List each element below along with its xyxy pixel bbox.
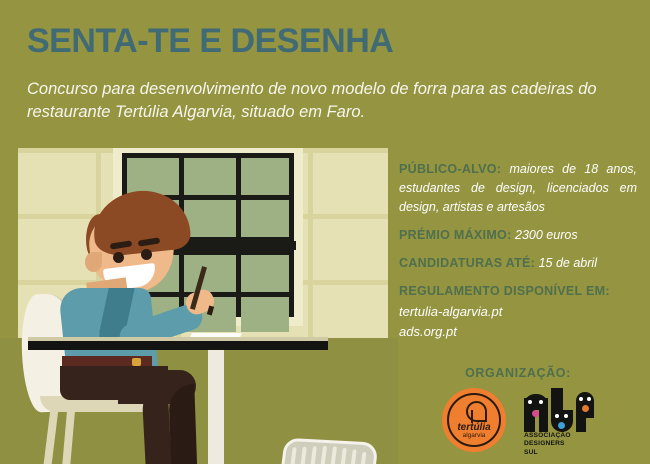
info-label: PRÉMIO MÁXIMO: xyxy=(399,228,512,242)
info-item-candidaturas: CANDIDATURAS ATÉ: 15 de abril xyxy=(399,254,637,273)
info-label: PÚBLICO-ALVO: xyxy=(399,162,501,176)
tertulia-algarvia-logo: tertúlia algarvia xyxy=(442,388,506,452)
page-title: SENTA-TE E DESENHA xyxy=(27,22,393,61)
organization-logos: tertúlia algarvia xyxy=(399,388,637,460)
page-subtitle: Concurso para desenvolvimento de novo mo… xyxy=(27,78,627,125)
info-column: PÚBLICO-ALVO: maiores de 18 anos, estuda… xyxy=(399,160,637,342)
info-item-premio-maximo: PRÉMIO MÁXIMO: 2300 euros xyxy=(399,226,637,245)
modern-slatted-chair xyxy=(262,438,396,464)
table-top xyxy=(28,341,328,350)
info-label: REGULAMENTO DISPONÍVEL EM: xyxy=(399,284,610,298)
man-shin-front xyxy=(168,384,197,464)
info-item-regulamento: REGULAMENTO DISPONÍVEL EM: xyxy=(399,282,637,301)
info-item-publico-alvo: PÚBLICO-ALVO: maiores de 18 anos, estuda… xyxy=(399,160,637,217)
info-value: 2300 euros xyxy=(515,228,578,242)
man-shin-back xyxy=(141,383,172,464)
info-label: CANDIDATURAS ATÉ: xyxy=(399,256,535,270)
ads-logo: ASSOCIAÇÃO DESIGNERS SUL xyxy=(524,388,594,456)
url-ads[interactable]: ads.org.pt xyxy=(399,323,637,342)
poster: SENTA-TE E DESENHA Concurso para desenvo… xyxy=(0,0,650,464)
man-drawing-at-table-illustration xyxy=(0,148,398,464)
url-tertulia[interactable]: tertulia-algarvia.pt xyxy=(399,303,637,322)
ads-logo-text: ASSOCIAÇÃO DESIGNERS SUL xyxy=(524,432,594,457)
man-eye-left xyxy=(113,252,124,263)
table-leg xyxy=(208,350,224,464)
ads-logo-line1: ASSOCIAÇÃO xyxy=(524,432,594,440)
modern-chair-backrest xyxy=(271,438,378,464)
ads-logo-line2: DESIGNERS xyxy=(524,440,594,448)
organization-section: ORGANIZAÇÃO: xyxy=(399,366,637,380)
ads-logo-line3: SUL xyxy=(524,449,594,457)
man-ear xyxy=(85,252,102,272)
info-value: 15 de abril xyxy=(539,256,597,270)
tertulia-logo-subname: algarvia xyxy=(442,432,506,439)
man-belt-buckle xyxy=(132,358,141,366)
man-eye-right xyxy=(141,249,152,260)
ads-logo-mark-icon xyxy=(524,388,594,432)
organization-title: ORGANIZAÇÃO: xyxy=(399,366,637,380)
